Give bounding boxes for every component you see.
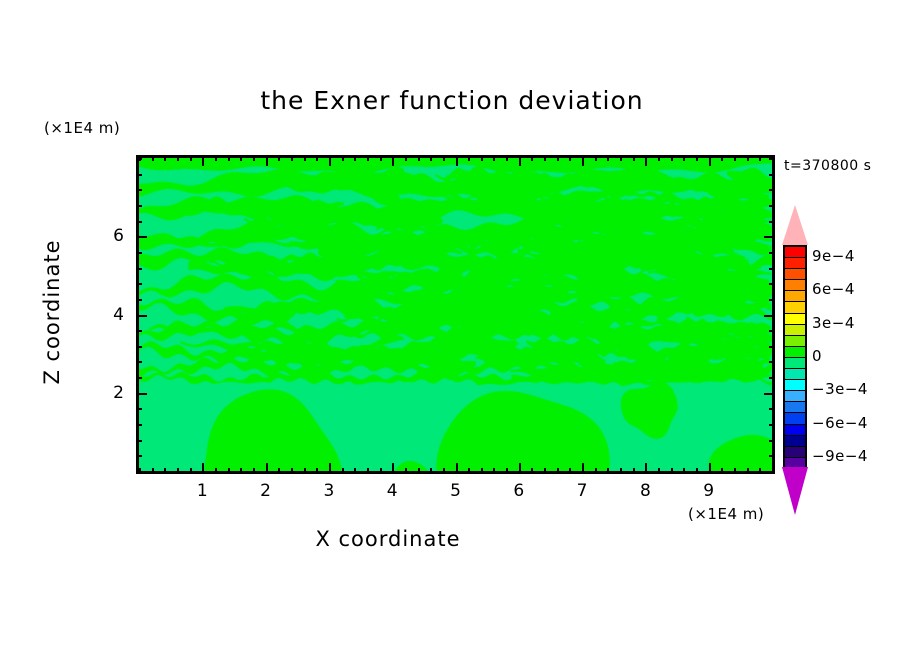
x-axis-unit-label: (×1E4 m) — [688, 505, 764, 523]
colorbar-band — [785, 269, 805, 280]
colorbar-band — [785, 425, 805, 436]
x-tick-label: 8 — [640, 481, 651, 501]
colorbar-tick-label: 3e−4 — [812, 314, 855, 332]
colorbar-band — [785, 447, 805, 458]
x-tick-label: 5 — [450, 481, 461, 501]
colorbar-tick-label: −6e−4 — [812, 414, 868, 432]
colorbar-band — [785, 302, 805, 313]
y-tick-label: 6 — [113, 226, 124, 246]
colorbar-overflow-cap-bottom — [782, 467, 808, 515]
colorbar-overflow-cap-top — [782, 205, 808, 245]
colorbar-band — [785, 413, 805, 424]
x-tick-label: 7 — [577, 481, 588, 501]
colorbar-tick-label: 9e−4 — [812, 247, 855, 265]
x-tick-label: 4 — [387, 481, 398, 501]
y-axis-tick-labels: 246 — [96, 155, 124, 474]
colorbar-tick-label: −9e−4 — [812, 447, 868, 465]
colorbar-band — [785, 358, 805, 369]
colorbar-band — [785, 436, 805, 447]
x-axis-title: X coordinate — [0, 527, 776, 551]
x-tick-label: 6 — [513, 481, 524, 501]
y-tick-label: 4 — [113, 305, 124, 325]
x-tick-label: 1 — [197, 481, 208, 501]
contour-field — [139, 158, 772, 471]
colorbar-band — [785, 336, 805, 347]
colorbar-band — [785, 369, 805, 380]
colorbar-band — [785, 380, 805, 391]
colorbar-band — [785, 391, 805, 402]
contour-plot-area — [136, 155, 775, 474]
colorbar-band — [785, 402, 805, 413]
colorbar-band — [785, 247, 805, 258]
x-tick-label: 2 — [260, 481, 271, 501]
colorbar-band — [785, 280, 805, 291]
y-axis-unit-label: (×1E4 m) — [44, 119, 120, 137]
colorbar-tick-label: −3e−4 — [812, 380, 868, 398]
timestamp-annotation: t=370800 s — [784, 158, 871, 174]
colorbar-band — [785, 325, 805, 336]
colorbar-band-stack — [783, 245, 807, 467]
x-tick-label: 9 — [703, 481, 714, 501]
y-axis-title: Z coordinate — [40, 202, 64, 422]
y-tick-label: 2 — [113, 383, 124, 403]
colorbar-band — [785, 258, 805, 269]
colorbar-band — [785, 291, 805, 302]
colorbar-band — [785, 347, 805, 358]
colorbar — [782, 205, 808, 515]
colorbar-tick-label: 6e−4 — [812, 280, 855, 298]
x-tick-label: 3 — [323, 481, 334, 501]
colorbar-tick-label: 0 — [812, 347, 822, 365]
colorbar-band — [785, 314, 805, 325]
colorbar-tick-labels: 9e−46e−43e−40−3e−4−6e−4−9e−4 — [812, 205, 902, 515]
page-title: the Exner function deviation — [0, 86, 904, 115]
